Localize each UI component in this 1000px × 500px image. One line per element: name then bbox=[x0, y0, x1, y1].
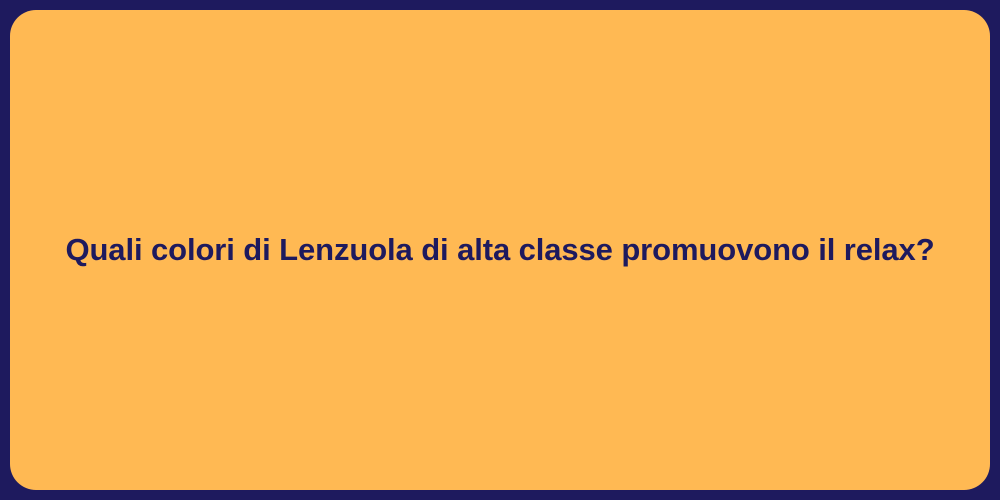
question-title: Quali colori di Lenzuola di alta classe … bbox=[65, 231, 934, 270]
page-frame: Quali colori di Lenzuola di alta classe … bbox=[0, 0, 1000, 500]
question-card: Quali colori di Lenzuola di alta classe … bbox=[10, 10, 990, 490]
